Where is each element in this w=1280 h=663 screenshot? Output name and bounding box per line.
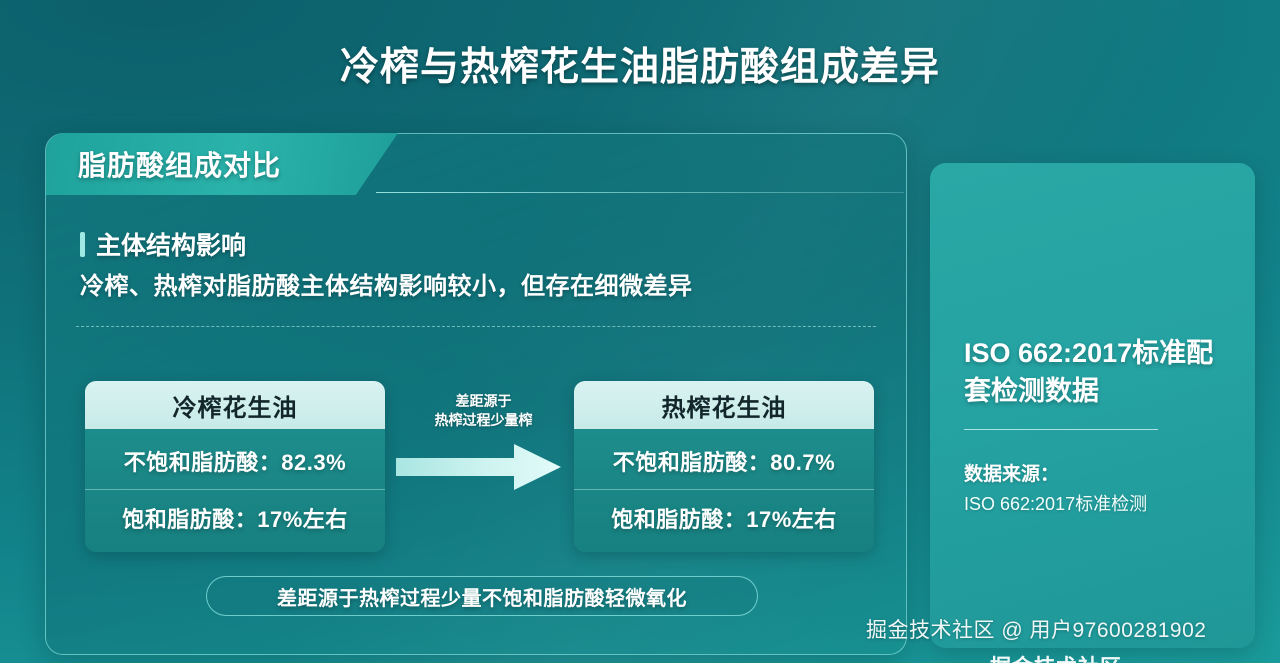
standard-panel-heading: ISO 662:2017标准配套检测数据 (964, 334, 1222, 410)
data-source-label: 数据来源： (964, 459, 1059, 486)
comparison-card-header: 热榨花生油 (574, 381, 874, 429)
comparison-row: 饱和脂肪酸：17%左右 (85, 489, 385, 546)
comparison-row-label: 饱和脂肪酸：17%左右 (122, 502, 348, 534)
subsection-body-text: 冷榨、热榨对脂肪酸主体结构影响较小，但存在细微差异 (80, 266, 693, 301)
comparison-row-label: 不饱和脂肪酸：82.3% (124, 445, 346, 477)
accent-bar-icon (80, 232, 85, 257)
fatty-acid-comparison-panel: 脂肪酸组成对比 主体结构影响 冷榨、热榨对脂肪酸主体结构影响较小，但存在细微差异… (45, 133, 907, 655)
comparison-row: 饱和脂肪酸：17%左右 (574, 489, 874, 546)
comparison-row-label: 饱和脂肪酸：17%左右 (611, 502, 837, 534)
comparison-row: 不饱和脂肪酸：82.3% (85, 433, 385, 489)
comparison-card-hot-pressed: 热榨花生油 不饱和脂肪酸：80.7% 饱和脂肪酸：17%左右 (574, 381, 874, 552)
comparison-card-title: 冷榨花生油 (173, 388, 298, 423)
dashed-divider (76, 326, 876, 327)
comparison-card-body: 不饱和脂肪酸：80.7% 饱和脂肪酸：17%左右 (574, 429, 874, 552)
comparison-card-body: 不饱和脂肪酸：82.3% 饱和脂肪酸：17%左右 (85, 429, 385, 552)
comparison-card-title: 热榨花生油 (662, 388, 787, 423)
right-arrow-icon (396, 442, 561, 492)
comparison-arrow-group: 差距源于 热榨过程少量榨 (396, 392, 571, 497)
subsection-heading: 主体结构影响 (80, 226, 246, 262)
standard-panel-divider (964, 429, 1158, 430)
slide-canvas: 冷榨与热榨花生油脂肪酸组成差异 脂肪酸组成对比 主体结构影响 冷榨、热榨对脂肪酸… (0, 0, 1280, 663)
comparison-row: 不饱和脂肪酸：80.7% (574, 433, 874, 489)
footnote-pill: 差距源于热榨过程少量不饱和脂肪酸轻微氧化 (206, 576, 758, 616)
watermark-text: 掘金技术社区 @ 用户97600281902 (866, 614, 1206, 644)
data-source-value: ISO 662:2017标准检测 (964, 490, 1147, 516)
comparison-row-label: 不饱和脂肪酸：80.7% (613, 445, 835, 477)
ribbon-trailing-line (376, 192, 904, 193)
ribbon-label: 脂肪酸组成对比 (78, 144, 281, 184)
footnote-label: 差距源于热榨过程少量不饱和脂肪酸轻微氧化 (277, 582, 687, 611)
arrow-caption-line-2: 热榨过程少量榨 (396, 411, 571, 430)
panel-ribbon-header: 脂肪酸组成对比 (46, 133, 398, 195)
comparison-card-header: 冷榨花生油 (85, 381, 385, 429)
standard-reference-panel: ISO 662:2017标准配套检测数据 数据来源： ISO 662:2017标… (930, 163, 1255, 648)
arrow-caption-line-1: 差距源于 (396, 392, 571, 411)
page-title: 冷榨与热榨花生油脂肪酸组成差异 (0, 36, 1280, 92)
comparison-card-cold-pressed: 冷榨花生油 不饱和脂肪酸：82.3% 饱和脂肪酸：17%左右 (85, 381, 385, 552)
arrow-caption: 差距源于 热榨过程少量榨 (396, 392, 571, 430)
subsection-heading-label: 主体结构影响 (96, 226, 246, 262)
watermark-cut-text: 掘金技术社区 (990, 651, 1122, 663)
